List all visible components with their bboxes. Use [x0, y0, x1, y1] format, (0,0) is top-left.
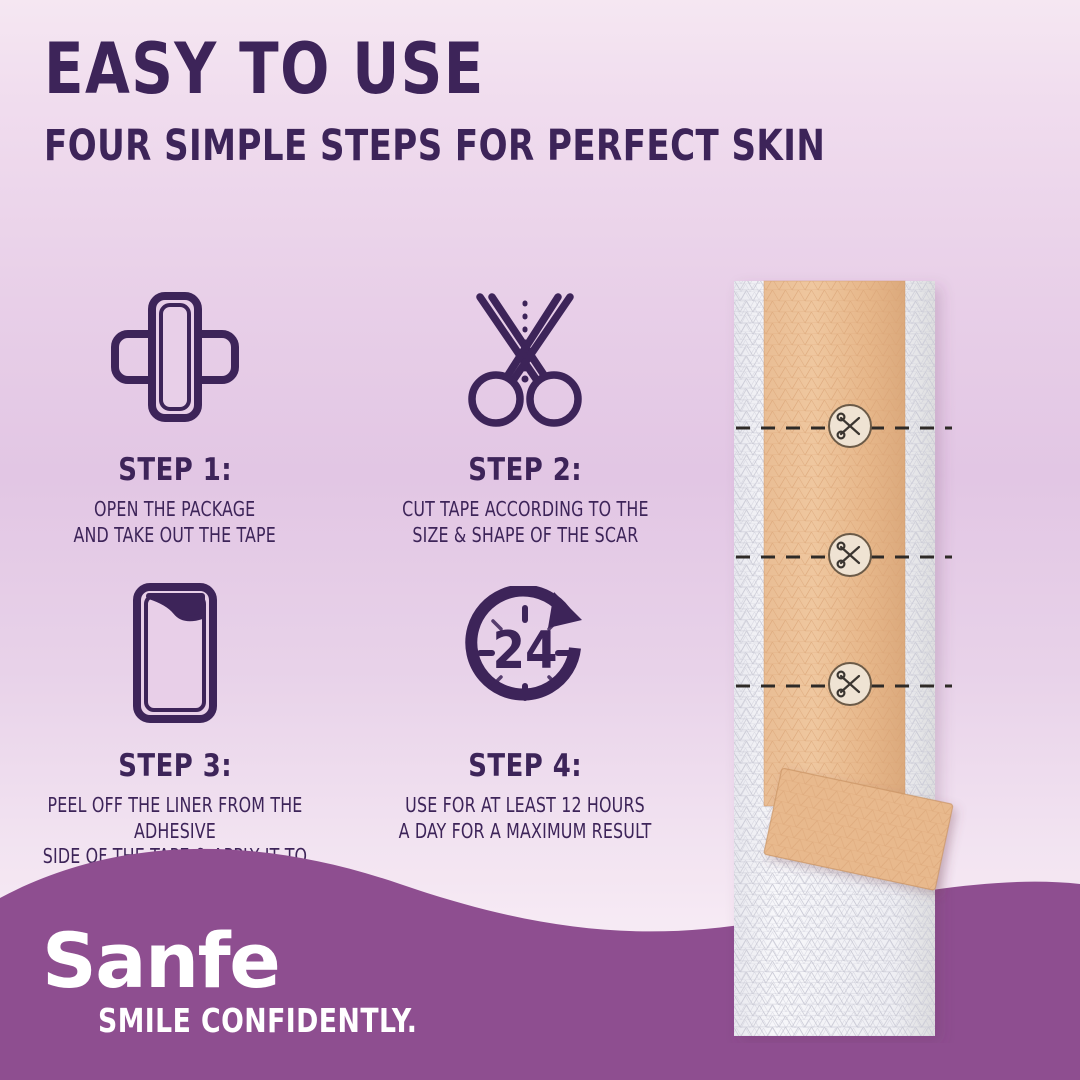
step-title-4: STEP 4: [468, 748, 582, 784]
steps-grid: STEP 1: OPEN THE PACKAGE AND TAKE OUT TH… [0, 282, 700, 896]
page-subtitle: FOUR SIMPLE STEPS FOR PERFECT SKIN [44, 125, 836, 168]
step-title-1: STEP 1: [118, 452, 232, 488]
step-item-2: STEP 2: CUT TAPE ACCORDING TO THE SIZE &… [350, 282, 700, 578]
brand-name: Sanfe [42, 927, 453, 995]
step-desc-2: CUT TAPE ACCORDING TO THE SIZE & SHAPE O… [402, 497, 649, 548]
step-item-1: STEP 1: OPEN THE PACKAGE AND TAKE OUT TH… [0, 282, 350, 578]
scissors-icon [458, 282, 592, 432]
step-title-3: STEP 3: [118, 748, 232, 784]
clock-24-label: 24 [492, 621, 557, 681]
page-title: EASY TO USE [44, 36, 872, 103]
bandage-package-icon [111, 282, 239, 432]
peel-liner-icon [132, 578, 218, 728]
clock-24-icon: 24 [458, 578, 592, 728]
brand-logo-block: Sanfe SMILE CONFIDENTLY. [42, 927, 453, 1040]
brand-tagline: SMILE CONFIDENTLY. [98, 1001, 417, 1040]
step-title-2: STEP 2: [468, 452, 582, 488]
step-desc-4: USE FOR AT LEAST 12 HOURS A DAY FOR A MA… [399, 793, 652, 844]
poster-canvas: EASY TO USE FOUR SIMPLE STEPS FOR PERFEC… [0, 0, 1080, 1080]
product-photo [714, 268, 974, 1043]
header-block: EASY TO USE FOUR SIMPLE STEPS FOR PERFEC… [44, 36, 944, 168]
step-desc-1: OPEN THE PACKAGE AND TAKE OUT THE TAPE [74, 497, 276, 548]
